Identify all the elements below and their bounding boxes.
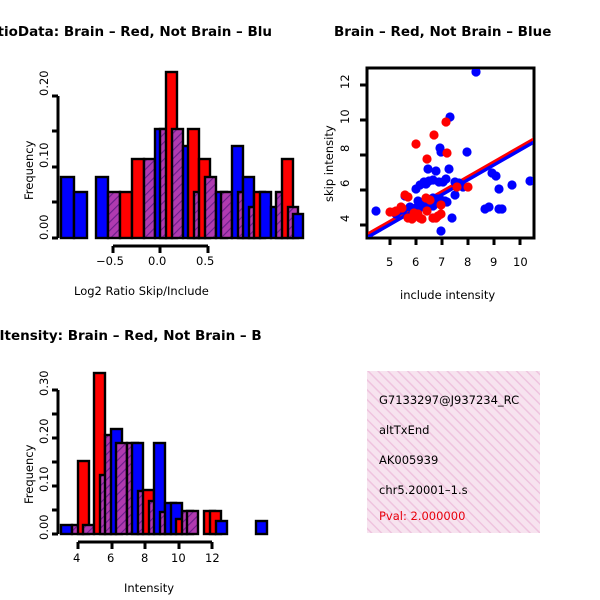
infobox-line-event-type: altTxEnd <box>379 423 429 437</box>
gene-info-box: G7133297@J937234_RC altTxEnd AK005939 ch… <box>367 371 540 533</box>
infobox-line-accession: AK005939 <box>379 453 438 467</box>
infobox-line-pval: Pval: 2.000000 <box>379 509 465 523</box>
infobox-line-probe: G7133297@J937234_RC <box>379 393 519 407</box>
intensity-histogram-bars <box>61 373 267 534</box>
infobox-line-locus: chr5.20001–1.s <box>379 483 468 497</box>
